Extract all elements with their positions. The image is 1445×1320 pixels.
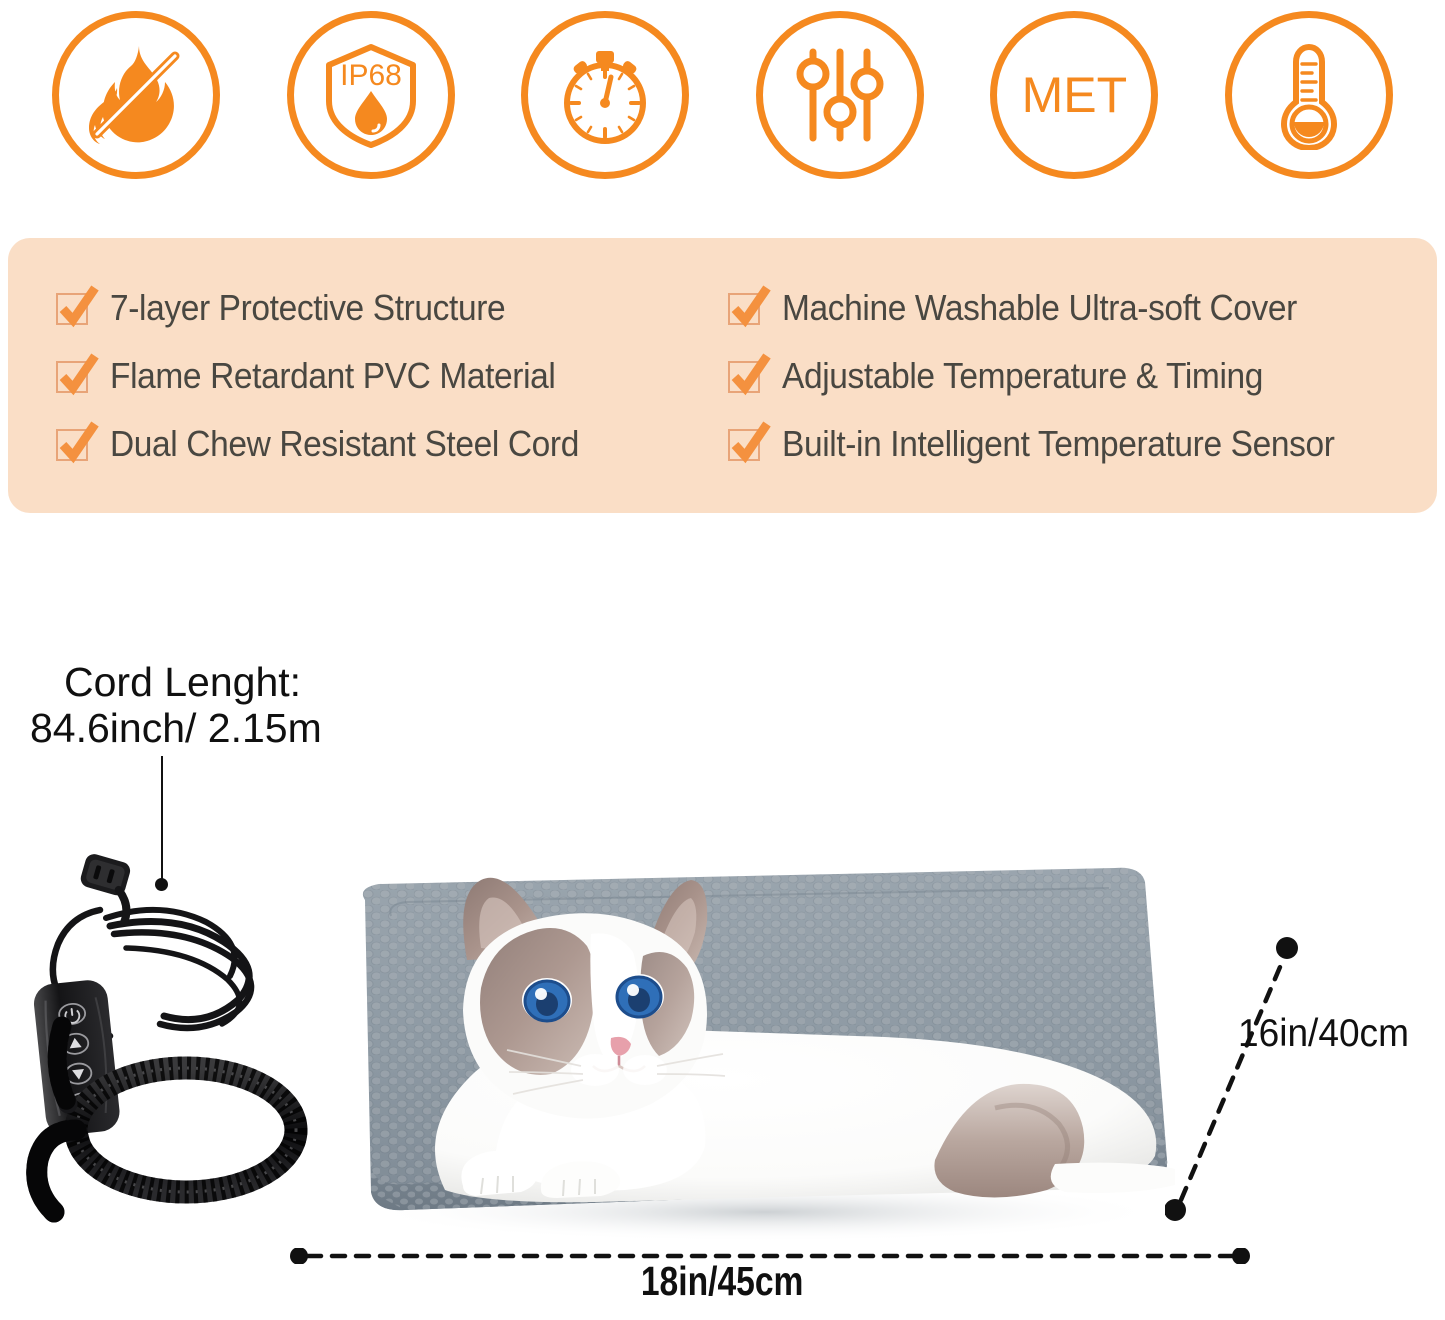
feature-item: Adjustable Temperature & Timing [728,348,1437,404]
ip68-label: IP68 [340,59,402,92]
features-panel: 7-layer Protective Structure Machine Was… [8,238,1437,513]
width-dimension-text: 18in/45cm [641,1258,804,1305]
checkmark-icon [728,358,764,394]
feature-label: 7-layer Protective Structure [110,287,505,329]
feature-item: Dual Chew Resistant Steel Cord [56,416,728,472]
feature-item: Machine Washable Ultra-soft Cover [728,280,1437,336]
feature-label: Built-in Intelligent Temperature Sensor [782,423,1334,465]
cord-length-title: Cord Lenght: [64,660,390,706]
feature-label: Machine Washable Ultra-soft Cover [782,287,1297,329]
product-scene: Cord Lenght: 84.6inch/ 2.15m [0,560,1445,1320]
feature-item: Flame Retardant PVC Material [56,348,728,404]
thermometer-icon [1225,11,1393,179]
feature-label: Dual Chew Resistant Steel Cord [110,423,579,465]
feature-item: Built-in Intelligent Temperature Sensor [728,416,1437,472]
checkmark-icon [56,426,92,462]
power-cord-and-controller [10,830,340,1230]
stopwatch-timer-icon [521,11,689,179]
pet-heating-mat [295,860,1175,1250]
features-grid: 7-layer Protective Structure Machine Was… [8,238,1437,513]
feature-item: 7-layer Protective Structure [56,280,728,336]
met-label: MET [1022,70,1128,120]
flame-retardant-icon [52,11,220,179]
adjustable-settings-icon [756,11,924,179]
cord-length-callout: Cord Lenght: 84.6inch/ 2.15m [30,660,390,752]
height-dimension-label: 16in/40cm [1238,1012,1409,1056]
checkmark-icon [728,426,764,462]
checkmark-icon [56,290,92,326]
checkmark-icon [56,358,92,394]
cord-length-value: 84.6inch/ 2.15m [30,706,390,752]
ip68-waterproof-icon: IP68 [287,11,455,179]
heating-pad-product [295,860,1175,1260]
checkmark-icon [728,290,764,326]
power-plug [72,852,140,923]
height-dimension-line [1165,880,1300,1280]
met-certified-icon: MET [990,11,1158,179]
width-dimension-label: 18in/45cm [0,1258,1445,1305]
feature-label: Flame Retardant PVC Material [110,355,555,397]
feature-label: Adjustable Temperature & Timing [782,355,1263,397]
certification-badge-row: IP68 [0,0,1445,190]
